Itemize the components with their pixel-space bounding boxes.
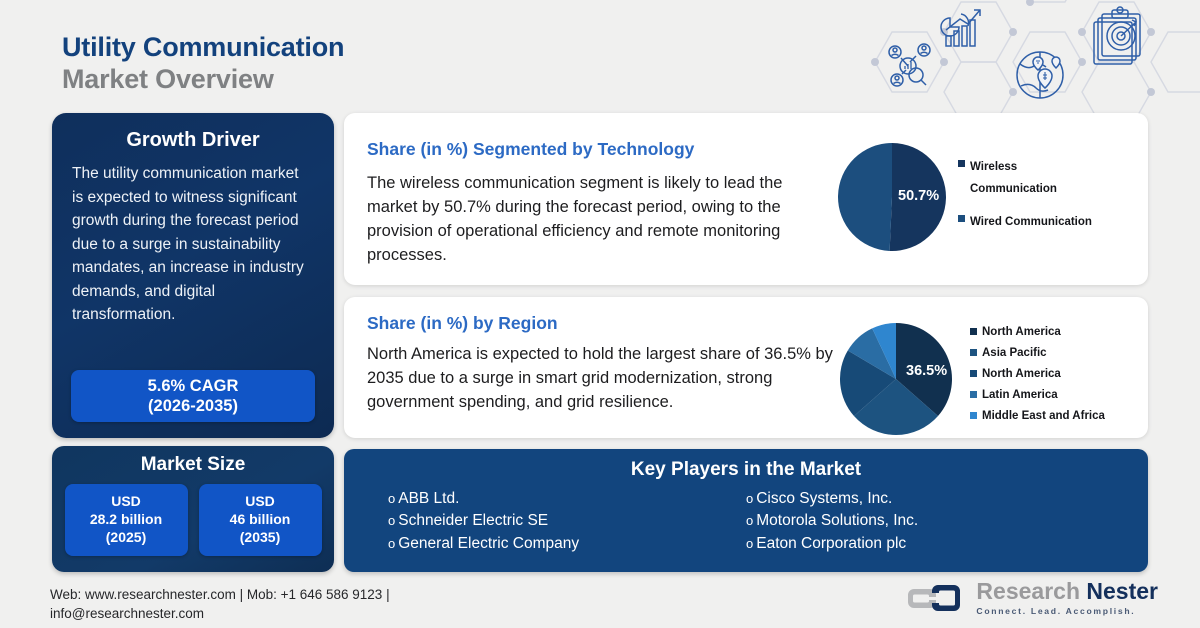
page-title-sub: Market Overview <box>62 64 344 96</box>
list-bullet-icon: o <box>388 490 395 509</box>
key-player-name: General Electric Company <box>398 533 579 555</box>
legend-swatch-icon <box>970 412 977 419</box>
currency-label: USD <box>111 493 141 511</box>
region-pie-legend: North AmericaAsia PacificNorth AmericaLa… <box>970 325 1105 430</box>
legend-item: Middle East and Africa <box>970 409 1105 425</box>
legend-swatch-icon <box>970 391 977 398</box>
cagr-period: (2026-2035) <box>148 396 238 416</box>
globe-location-money-icon <box>1017 52 1063 98</box>
value-label: 46 billion <box>230 511 291 529</box>
legend-label: Latin America <box>982 388 1058 404</box>
legend-label: North America <box>982 325 1061 341</box>
bar-chart-growth-icon <box>941 10 980 46</box>
cagr-value: 5.6% CAGR <box>148 376 239 396</box>
legend-label: Middle East and Africa <box>982 409 1105 425</box>
legend-label: Wired Communication <box>970 212 1092 234</box>
key-players-column-right: oCisco Systems, Inc.oMotorola Solutions,… <box>746 488 1104 555</box>
logo-name: Research Nester <box>976 580 1158 603</box>
legend-item: Wired Communication <box>958 212 1100 234</box>
logo-mark-icon <box>907 581 969 615</box>
list-bullet-icon: o <box>746 512 753 531</box>
key-player-name: Eaton Corporation plc <box>756 533 906 555</box>
legend-item: Latin America <box>970 388 1105 404</box>
technology-pie-chart: 50.7% <box>838 143 956 256</box>
list-bullet-icon: o <box>388 512 395 531</box>
key-player-item: oABB Ltd. <box>388 488 746 510</box>
key-player-name: ABB Ltd. <box>398 488 459 510</box>
legend-item: Wireless Communication <box>958 157 1100 201</box>
key-player-item: oSchneider Electric SE <box>388 510 746 532</box>
legend-item: Asia Pacific <box>970 346 1105 362</box>
key-player-name: Motorola Solutions, Inc. <box>756 510 918 532</box>
key-players-columns: oABB Ltd.oSchneider Electric SEoGeneral … <box>344 488 1148 555</box>
market-size-card: Market Size USD 28.2 billion (2025) USD … <box>52 446 334 572</box>
value-label: 28.2 billion <box>90 511 162 529</box>
key-players-card: Key Players in the Market oABB Ltd.oSchn… <box>344 449 1148 572</box>
legend-label: Wireless Communication <box>970 157 1100 201</box>
research-nester-logo: Research Nester Connect. Lead. Accomplis… <box>907 580 1158 616</box>
footer-contact-line2: info@researchnester.com <box>50 604 520 623</box>
clipboard-target-icon <box>1094 7 1140 64</box>
list-bullet-icon: o <box>388 535 395 554</box>
market-size-box-2025: USD 28.2 billion (2025) <box>65 484 188 556</box>
technology-card-title: Share (in %) Segmented by Technology <box>367 139 694 160</box>
page-header: Utility Communication Market Overview <box>62 32 344 96</box>
year-label: (2025) <box>106 529 146 547</box>
legend-item: North America <box>970 367 1105 383</box>
year-label: (2035) <box>240 529 280 547</box>
key-player-item: oGeneral Electric Company <box>388 533 746 555</box>
growth-driver-card: Growth Driver The utility communication … <box>52 113 334 438</box>
region-card-title: Share (in %) by Region <box>367 313 558 334</box>
footer-contact-line1: Web: www.researchnester.com | Mob: +1 64… <box>50 585 520 604</box>
legend-swatch-icon <box>970 349 977 356</box>
technology-pie-legend: Wireless CommunicationWired Communicatio… <box>958 157 1100 245</box>
region-pie-svg <box>840 323 970 435</box>
market-size-values: USD 28.2 billion (2025) USD 46 billion (… <box>64 484 322 556</box>
pie-slice <box>890 143 946 251</box>
legend-swatch-icon <box>958 215 965 222</box>
market-size-title: Market Size <box>64 454 322 476</box>
legend-label: North America <box>982 367 1061 383</box>
growth-driver-title: Growth Driver <box>72 129 314 152</box>
list-bullet-icon: o <box>746 535 753 554</box>
legend-label: Asia Pacific <box>982 346 1047 362</box>
key-player-item: oCisco Systems, Inc. <box>746 488 1104 510</box>
growth-driver-body: The utility communication market is expe… <box>72 162 314 327</box>
legend-item: North America <box>970 325 1105 341</box>
logo-tagline: Connect. Lead. Accomplish. <box>976 606 1158 616</box>
logo-text: Research Nester Connect. Lead. Accomplis… <box>976 580 1158 616</box>
hexagon-decoration <box>840 0 1200 120</box>
key-player-name: Cisco Systems, Inc. <box>756 488 892 510</box>
footer-contact: Web: www.researchnester.com | Mob: +1 64… <box>50 585 520 623</box>
cagr-badge: 5.6% CAGR (2026-2035) <box>71 370 315 422</box>
technology-card-body: The wireless communication segment is li… <box>367 171 827 267</box>
people-network-magnifier-icon <box>889 44 930 86</box>
market-size-box-2035: USD 46 billion (2035) <box>199 484 322 556</box>
technology-pie-svg <box>838 143 956 251</box>
key-player-name: Schneider Electric SE <box>398 510 548 532</box>
key-players-title: Key Players in the Market <box>344 459 1148 481</box>
key-player-item: oMotorola Solutions, Inc. <box>746 510 1104 532</box>
page-title-main: Utility Communication <box>62 32 344 64</box>
logo-research-word: Research <box>976 578 1080 604</box>
legend-swatch-icon <box>970 370 977 377</box>
pie-slice <box>838 143 892 251</box>
list-bullet-icon: o <box>746 490 753 509</box>
key-player-item: oEaton Corporation plc <box>746 533 1104 555</box>
region-card-body: North America is expected to hold the la… <box>367 342 837 414</box>
legend-swatch-icon <box>970 328 977 335</box>
region-pie-chart: 36.5% <box>840 323 970 440</box>
logo-nester-word: Nester <box>1086 578 1158 604</box>
key-players-column-left: oABB Ltd.oSchneider Electric SEoGeneral … <box>388 488 746 555</box>
currency-label: USD <box>245 493 275 511</box>
legend-swatch-icon <box>958 160 965 167</box>
infographic-canvas: Utility Communication Market Overview Gr… <box>0 0 1200 628</box>
